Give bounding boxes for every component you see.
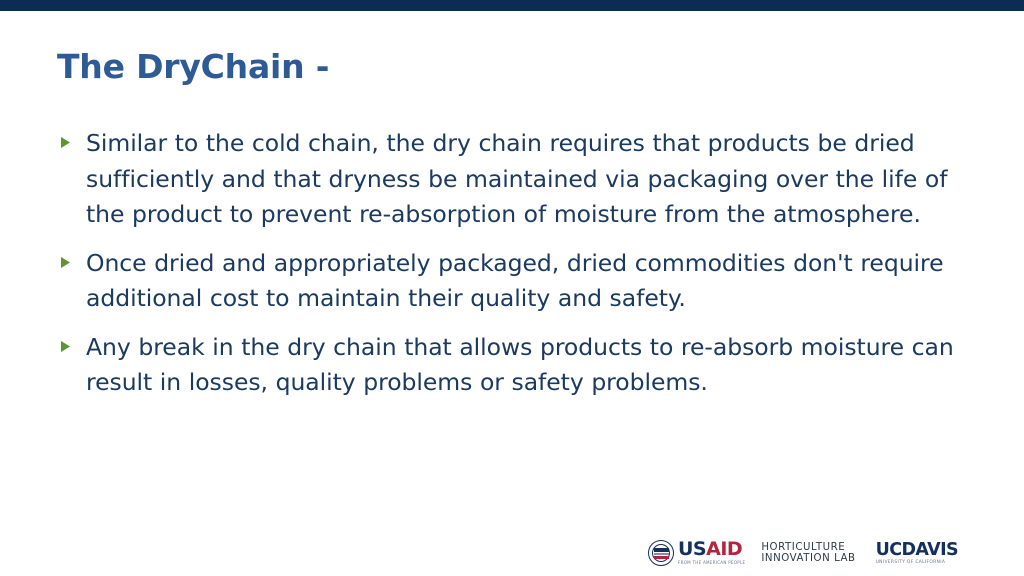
list-item: Once dried and appropriately packaged, d… [60, 246, 970, 317]
list-item: Any break in the dry chain that allows p… [60, 330, 970, 401]
horticulture-innovation-lab-logo: HORTICULTURE INNOVATION LAB [761, 542, 855, 565]
hort-lab-line-2: INNOVATION LAB [761, 553, 855, 565]
usaid-wordmark: USAID FROM THE AMERICAN PEOPLE [678, 540, 745, 566]
ucdavis-word-uc: UC [876, 540, 902, 560]
slide-top-accent-bar [0, 0, 1024, 11]
usaid-tagline: FROM THE AMERICAN PEOPLE [678, 560, 745, 566]
list-item: Similar to the cold chain, the dry chain… [60, 126, 970, 233]
page-title: The DryChain - [57, 48, 329, 86]
footer-logo-strip: USAID FROM THE AMERICAN PEOPLE HORTICULT… [648, 536, 978, 570]
uc-davis-logo: UCDAVIS UNIVERSITY OF CALIFORNIA [876, 541, 958, 566]
ucdavis-tagline: UNIVERSITY OF CALIFORNIA [876, 559, 958, 566]
hort-lab-line-1: HORTICULTURE [761, 542, 855, 554]
list-item-label: Any break in the dry chain that allows p… [86, 330, 966, 401]
list-item-label: Similar to the cold chain, the dry chain… [86, 126, 970, 233]
usaid-word-us: US [678, 538, 706, 560]
presentation-slide: The DryChain - Similar to the cold chain… [0, 0, 1024, 576]
ucdavis-word-davis: DAVIS [901, 540, 958, 560]
list-item-label: Once dried and appropriately packaged, d… [86, 246, 948, 317]
triangle-right-bullet-icon [60, 246, 86, 269]
usaid-seal-icon [648, 540, 674, 566]
usaid-word-aid: AID [706, 538, 742, 560]
triangle-right-bullet-icon [60, 126, 86, 149]
usaid-logo: USAID FROM THE AMERICAN PEOPLE [648, 540, 745, 566]
slide-body-content: Similar to the cold chain, the dry chain… [60, 126, 970, 401]
triangle-right-bullet-icon [60, 330, 86, 353]
